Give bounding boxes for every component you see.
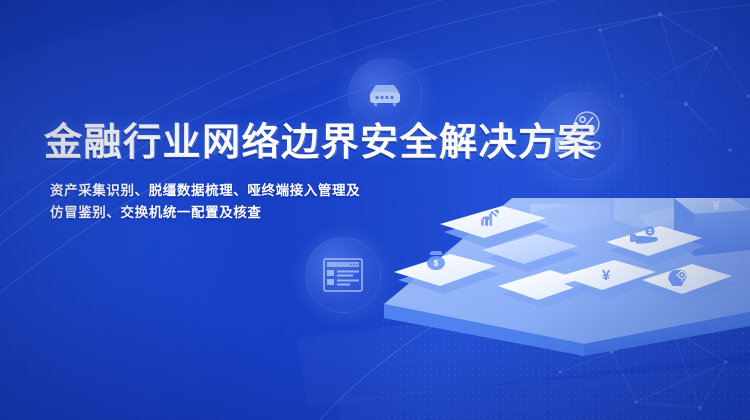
yen-currency-icon: ¥ bbox=[602, 267, 611, 284]
page-subtitle: 资产采集识别、脱缰数据梳理、哑终端接入管理及 仿冒鉴别、交换机统一配置及核查 bbox=[50, 180, 514, 224]
document-window-icon bbox=[323, 258, 363, 292]
yen-currency-icon: ¥ bbox=[712, 198, 720, 213]
badge-document-window bbox=[305, 237, 381, 313]
background-band-b bbox=[339, 345, 750, 420]
marketing-banner: ¥ $ bbox=[0, 0, 750, 420]
headline-block: 金融行业网络边界安全解决方案 资产采集识别、脱缰数据梳理、哑终端接入管理及 仿冒… bbox=[44, 120, 514, 224]
money-bag-icon: $ bbox=[427, 251, 445, 270]
server-router-icon bbox=[365, 80, 405, 110]
subtitle-line-1: 资产采集识别、脱缰数据梳理、哑终端接入管理及 bbox=[50, 180, 514, 202]
subtitle-line-2: 仿冒鉴别、交换机统一配置及核查 bbox=[50, 202, 514, 224]
svg-text:$: $ bbox=[434, 259, 439, 268]
page-title: 金融行业网络边界安全解决方案 bbox=[44, 120, 514, 166]
